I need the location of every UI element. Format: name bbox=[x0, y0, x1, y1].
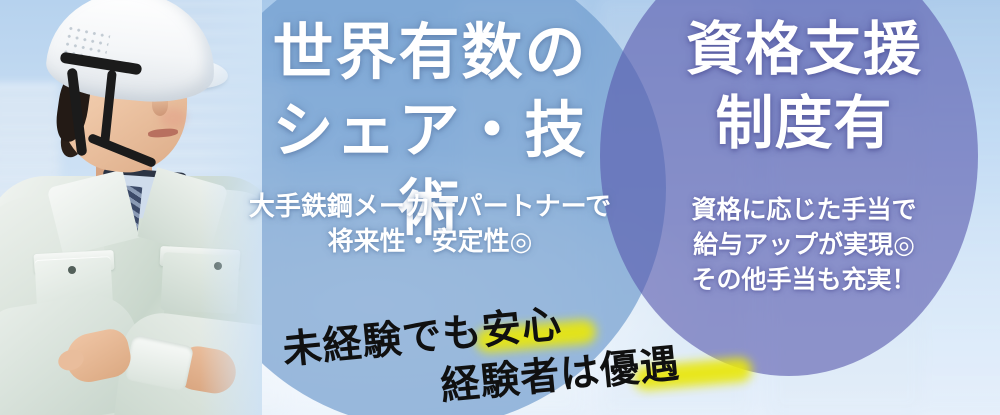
left-headline-line-1: 世界有数の bbox=[248, 14, 612, 92]
worker-pocket-button-left bbox=[68, 266, 76, 274]
right-subtext: 資格に応じた手当で 給与アップが実現◎ その他手当も充実！ bbox=[648, 192, 960, 297]
right-headline-line-1: 資格支援 bbox=[648, 12, 960, 86]
worker-photo bbox=[0, 0, 262, 415]
left-subtext-line-1: 大手鉄鋼メーカーパートナーで bbox=[248, 190, 612, 225]
right-subtext-line-2: 給与アップが実現◎ bbox=[648, 227, 960, 262]
left-subtext-line-2: 将来性・安定性◎ bbox=[248, 225, 612, 260]
recruitment-banner: 世界有数の シェア・技術 大手鉄鋼メーカーパートナーで 将来性・安定性◎ 資格支… bbox=[0, 0, 1000, 415]
right-subtext-line-3: その他手当も充実！ bbox=[648, 262, 960, 297]
left-subtext: 大手鉄鋼メーカーパートナーで 将来性・安定性◎ bbox=[248, 190, 612, 260]
right-headline-line-2: 制度有 bbox=[648, 86, 960, 160]
right-subtext-line-1: 資格に応じた手当で bbox=[648, 192, 960, 227]
right-headline: 資格支援 制度有 bbox=[648, 12, 960, 160]
